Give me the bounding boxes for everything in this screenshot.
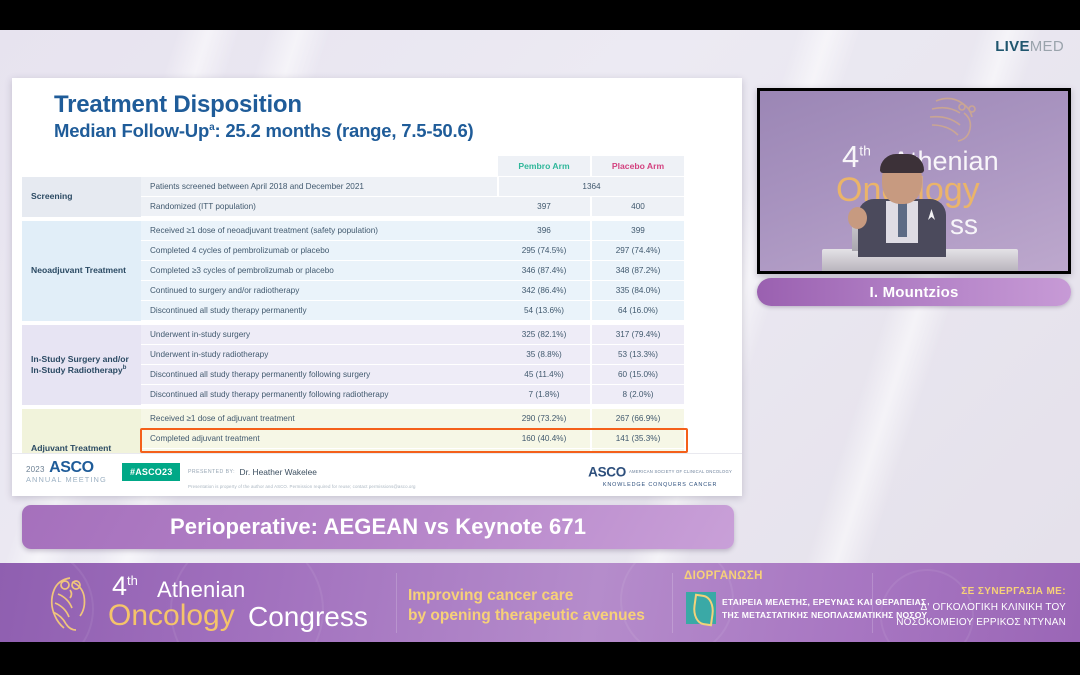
table-header-row: Pembro Arm Placebo Arm [22, 156, 684, 177]
cooperation-label: ΣΕ ΣΥΝΕΡΓΑΣΙΑ ΜΕ: [961, 586, 1066, 597]
row-label: Patients screened between April 2018 and… [141, 177, 498, 197]
row-value-pembro: 295 (74.5%) [498, 241, 591, 261]
webcast-stage: LIVEMED Treatment Disposition Median Fol… [0, 0, 1080, 675]
row-value-both-arms: 1364 [498, 177, 684, 197]
row-label: Underwent in-study surgery [141, 325, 498, 345]
presentation-slide[interactable]: Treatment Disposition Median Follow-Upa:… [12, 78, 742, 496]
row-value-pembro: 346 (87.4%) [498, 261, 591, 281]
row-label: Discontinued all study therapy permanent… [141, 301, 498, 321]
table-row: In-Study Surgery and/or In-Study Radioth… [22, 325, 684, 345]
row-group-label: In-Study Surgery and/or In-Study Radioth… [22, 325, 141, 405]
table-body: ScreeningPatients screened between April… [22, 177, 684, 489]
speaker-video-frame: 4th Athenian Oncology ss [760, 91, 1068, 271]
row-label: Received ≥1 dose of neoadjuvant treatmen… [141, 221, 498, 241]
row-value-placebo: 335 (84.0%) [591, 281, 684, 301]
row-value-placebo: 399 [591, 221, 684, 241]
banner-tagline-line2: by opening therapeutic avenues [408, 606, 645, 626]
row-value-placebo: 317 (79.4%) [591, 325, 684, 345]
session-title: Perioperative: AEGEAN vs Keynote 671 [170, 514, 586, 540]
owl-logo-icon [906, 93, 990, 149]
asco-kcc-tagline: KNOWLEDGE CONQUERS CANCER [588, 482, 732, 488]
asco-wordmark: ASCO [49, 459, 94, 476]
session-title-banner: Perioperative: AEGEAN vs Keynote 671 [22, 505, 734, 549]
row-label: Discontinued all study therapy permanent… [141, 385, 498, 405]
table-header: Pembro Arm Placebo Arm [22, 156, 684, 177]
livemed-logo-med: MED [1030, 38, 1064, 55]
row-value-pembro: 160 (40.4%) [498, 429, 591, 449]
column-header-placebo: Placebo Arm [591, 156, 684, 177]
cam-congress-partial: ss [950, 209, 978, 241]
row-value-pembro: 45 (11.4%) [498, 365, 591, 385]
cooperation-name-line1: Δ' ΟΓΚΟΛΟΓΙΚΗ ΚΛΙΝΙΚΗ ΤΟΥ [896, 601, 1066, 616]
banner-tagline: Improving cancer care by opening therape… [408, 586, 645, 626]
row-value-pembro: 396 [498, 221, 591, 241]
slide-subtitle-prefix: Median Follow-Up [54, 120, 209, 141]
table-row: ScreeningPatients screened between April… [22, 177, 684, 197]
header-label-spacer [141, 156, 498, 177]
row-value-pembro: 7 (1.8%) [498, 385, 591, 405]
row-value-pembro: 290 (73.2%) [498, 409, 591, 429]
row-label: Continued to surgery and/or radiotherapy [141, 281, 498, 301]
livemed-logo-live: LIVE [995, 38, 1030, 55]
presented-by-label: PRESENTED BY: [188, 469, 235, 475]
speaker-nameplate: I. Mountzios [757, 278, 1071, 306]
row-value-placebo: 53 (13.3%) [591, 345, 684, 365]
banner-congress: Congress [248, 601, 368, 633]
row-value-placebo: 267 (66.9%) [591, 409, 684, 429]
speaker-name: I. Mountzios [869, 284, 958, 301]
permission-notice: Presentation is property of the author a… [188, 484, 416, 489]
livemed-logo: LIVEMED [995, 38, 1064, 55]
speaker-hair [880, 154, 924, 173]
row-value-placebo: 348 (87.2%) [591, 261, 684, 281]
row-label: Randomized (ITT population) [141, 197, 498, 217]
banner-ordinal: 4th [112, 571, 138, 602]
owl-logo-icon-banner [40, 572, 102, 634]
row-group-label: Screening [22, 177, 141, 217]
row-label: Underwent in-study radiotherapy [141, 345, 498, 365]
treatment-disposition-table: Pembro Arm Placebo Arm ScreeningPatients… [22, 156, 684, 489]
speaker-tie [898, 203, 907, 237]
organizer-label: ΔΙΟΡΓΑΝΩΣΗ [684, 570, 763, 582]
row-label: Completed adjuvant treatment [141, 429, 498, 449]
row-value-placebo: 64 (16.0%) [591, 301, 684, 321]
row-value-pembro: 342 (86.4%) [498, 281, 591, 301]
top-bar [0, 30, 1080, 66]
speaker-hand [848, 207, 867, 229]
asco-kcc-subtext: AMERICAN SOCIETY OF CLINICAL ONCOLOGY [629, 469, 732, 474]
asco-kcc-row1: ASCOAMERICAN SOCIETY OF CLINICAL ONCOLOG… [588, 463, 732, 481]
row-group-label: Neoadjuvant Treatment [22, 221, 141, 321]
column-header-pembro: Pembro Arm [498, 156, 591, 177]
asco-kcc-logo: ASCOAMERICAN SOCIETY OF CLINICAL ONCOLOG… [588, 463, 732, 488]
row-value-placebo: 141 (35.3%) [591, 429, 684, 449]
table-row: Adjuvant TreatmentReceived ≥1 dose of ad… [22, 409, 684, 429]
row-label: Received ≥1 dose of adjuvant treatment [141, 409, 498, 429]
slide-footer: 2023 ASCO ANNUAL MEETING #ASCO23 PRESENT… [12, 453, 742, 496]
banner-tagline-line1: Improving cancer care [408, 586, 645, 606]
row-label: Completed ≥3 cycles of pembrolizumab or … [141, 261, 498, 281]
row-value-placebo: 297 (74.4%) [591, 241, 684, 261]
row-value-placebo: 60 (15.0%) [591, 365, 684, 385]
asco-year: 2023 [26, 465, 45, 474]
row-label: Discontinued all study therapy permanent… [141, 365, 498, 385]
presenter-name: Dr. Heather Wakelee [240, 467, 317, 477]
row-value-pembro: 35 (8.8%) [498, 345, 591, 365]
row-value-pembro: 54 (13.6%) [498, 301, 591, 321]
cooperation-name: Δ' ΟΓΚΟΛΟΓΙΚΗ ΚΛΙΝΙΚΗ ΤΟΥ ΝΟΣΟΚΟΜΕΙΟΥ ΕΡ… [896, 601, 1066, 630]
row-label: Completed 4 cycles of pembrolizumab or p… [141, 241, 498, 261]
asco-annual-meeting-text: ANNUAL MEETING [26, 476, 107, 483]
asco-kcc-wordmark: ASCO [588, 464, 626, 479]
row-value-pembro: 325 (82.1%) [498, 325, 591, 345]
row-value-placebo: 8 (2.0%) [591, 385, 684, 405]
conference-hashtag: #ASCO23 [122, 463, 180, 481]
banner-oncology: Oncology [108, 599, 235, 633]
table-row: Neoadjuvant TreatmentReceived ≥1 dose of… [22, 221, 684, 241]
presented-by-block: PRESENTED BY: Dr. Heather Wakelee Presen… [188, 463, 416, 489]
header-group-spacer [22, 156, 141, 177]
cooperation-name-line2: ΝΟΣΟΚΟΜΕΙΟΥ ΕΡΡΙΚΟΣ ΝΤΥΝΑΝ [896, 616, 1066, 631]
speaker-video-panel[interactable]: 4th Athenian Oncology ss [757, 88, 1071, 274]
organizer-logo-icon [686, 592, 716, 624]
row-value-placebo: 400 [591, 197, 684, 217]
slide-subtitle: Median Follow-Upa: 25.2 months (range, 7… [54, 120, 474, 142]
slide-subtitle-rest: : 25.2 months (range, 7.5-50.6) [214, 120, 473, 141]
asco-annual-meeting-logo: 2023 ASCO ANNUAL MEETING [26, 460, 107, 483]
speaker-figure [856, 157, 948, 253]
slide-title: Treatment Disposition [54, 92, 302, 118]
row-value-pembro: 397 [498, 197, 591, 217]
